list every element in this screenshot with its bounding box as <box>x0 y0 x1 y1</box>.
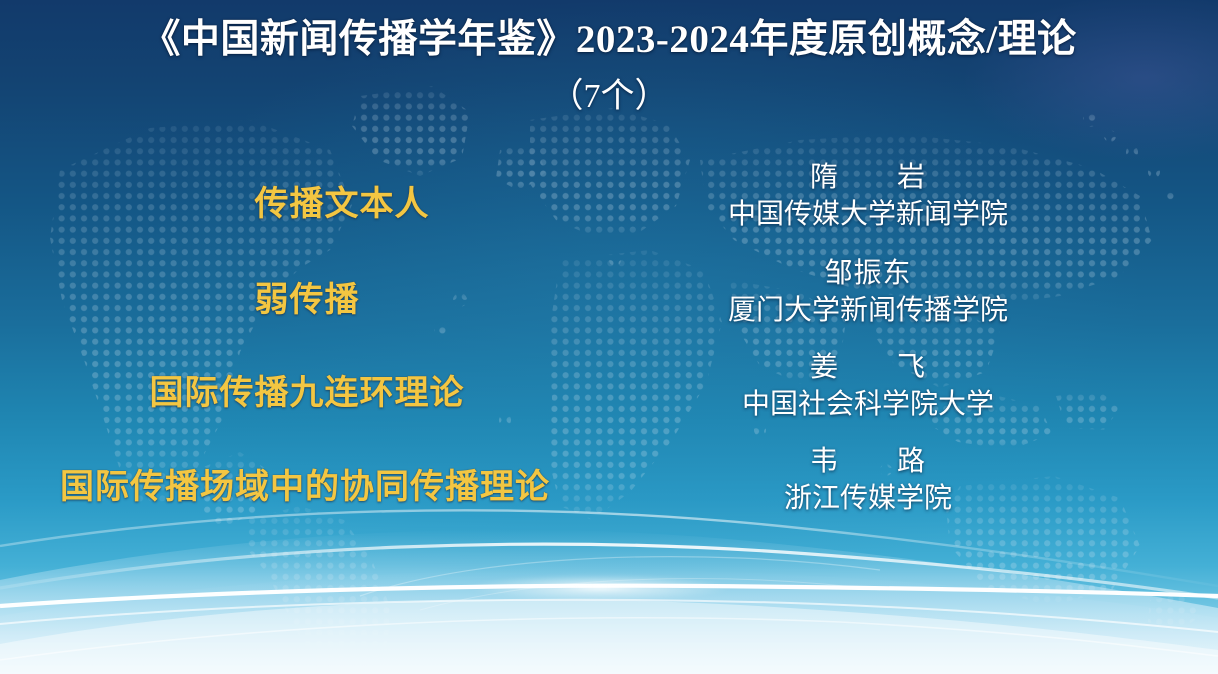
slide-title: 《中国新闻传播学年鉴》2023-2024年度原创概念/理论 <box>0 16 1218 65</box>
concept-label: 国际传播九连环理论 <box>150 365 465 414</box>
author-name: 隋 岩 <box>630 160 1106 196</box>
author-affiliation: 浙江传媒学院 <box>630 480 1106 518</box>
concept-label: 弱传播 <box>255 272 360 321</box>
presentation-slide: 《中国新闻传播学年鉴》2023-2024年度原创概念/理论 （7个） 传播文本人… <box>0 0 1218 674</box>
concept-cell: 国际传播场域中的协同传播理论 <box>0 456 620 510</box>
author-cell: 韦 路 浙江传媒学院 <box>630 444 1218 517</box>
entry-row: 弱传播 邹振东 厦门大学新闻传播学院 <box>0 258 1218 354</box>
author-name: 邹振东 <box>630 256 1106 292</box>
entry-row: 国际传播九连环理论 姜 飞 中国社会科学院大学 <box>0 354 1218 450</box>
concept-cell: 传播文本人 <box>27 173 657 227</box>
entry-row: 传播文本人 隋 岩 中国传媒大学新闻学院 <box>0 162 1218 258</box>
author-affiliation: 中国社会科学院大学 <box>630 386 1106 424</box>
concept-cell: 国际传播九连环理论 <box>0 362 622 416</box>
slide-subtitle-count: （7个） <box>0 65 1218 130</box>
author-name: 姜 飞 <box>630 350 1106 386</box>
entry-list: 传播文本人 隋 岩 中国传媒大学新闻学院 弱传播 邹振东 厦门大学新闻传播学院 <box>0 162 1218 546</box>
author-name: 韦 路 <box>630 444 1106 480</box>
concept-label: 传播文本人 <box>255 176 430 225</box>
author-affiliation: 厦门大学新闻传播学院 <box>630 292 1106 330</box>
concept-label: 国际传播场域中的协同传播理论 <box>60 459 550 508</box>
author-cell: 邹振东 厦门大学新闻传播学院 <box>630 256 1218 329</box>
author-affiliation: 中国传媒大学新闻学院 <box>630 196 1106 234</box>
author-cell: 隋 岩 中国传媒大学新闻学院 <box>630 160 1218 233</box>
slide-content: 《中国新闻传播学年鉴》2023-2024年度原创概念/理论 （7个） 传播文本人… <box>0 0 1218 674</box>
slide-title-block: 《中国新闻传播学年鉴》2023-2024年度原创概念/理论 （7个） <box>0 16 1218 129</box>
author-cell: 姜 飞 中国社会科学院大学 <box>630 350 1218 423</box>
entry-row: 国际传播场域中的协同传播理论 韦 路 浙江传媒学院 <box>0 450 1218 546</box>
concept-cell: 弱传播 <box>0 269 622 323</box>
